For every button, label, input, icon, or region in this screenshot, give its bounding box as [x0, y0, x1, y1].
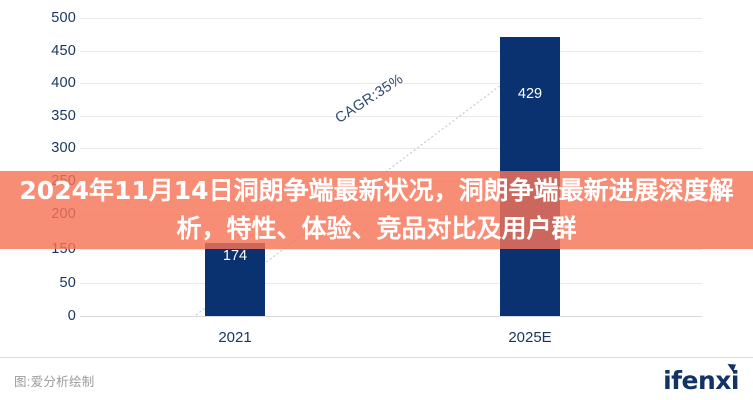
gridline-50	[80, 283, 702, 284]
x-axis-baseline	[80, 316, 702, 317]
gridline-450	[80, 51, 702, 52]
gridline-150	[80, 249, 702, 250]
y-tick-50: 50	[14, 276, 76, 291]
source-credit: 图:爱分析绘制	[14, 371, 95, 390]
gridline-500	[80, 18, 702, 19]
bar-value-2021: 174	[205, 249, 265, 264]
bar-value-2025e: 429	[500, 87, 560, 102]
y-tick-500: 500	[14, 11, 76, 26]
ifenxi-logo: ifenxi	[663, 365, 739, 393]
y-tick-300: 300	[14, 141, 76, 156]
y-tick-350: 350	[14, 109, 76, 124]
y-tick-0: 0	[14, 309, 76, 324]
y-tick-450: 450	[14, 44, 76, 59]
gridline-300	[80, 148, 702, 149]
x-tick-2025e: 2025E	[490, 330, 570, 345]
brand-swoosh-icon	[726, 363, 738, 375]
headline-overlay-band: 2024年11月14日洞朗争端最新状况，洞朗争端最新进展深度解析，特性、体验、竞…	[0, 171, 753, 249]
gridline-350	[80, 116, 702, 117]
headline-text: 2024年11月14日洞朗争端最新状况，洞朗争端最新进展深度解析，特性、体验、竞…	[4, 172, 750, 248]
footer: 图:爱分析绘制 ifenxi	[0, 358, 753, 400]
y-tick-400: 400	[14, 76, 76, 91]
chart-screenshot: 500 450 400 350 300 250 200 150 50 0 CAG…	[0, 0, 753, 400]
cagr-label: CAGR:35%	[333, 71, 407, 127]
x-tick-2021: 2021	[195, 330, 275, 345]
